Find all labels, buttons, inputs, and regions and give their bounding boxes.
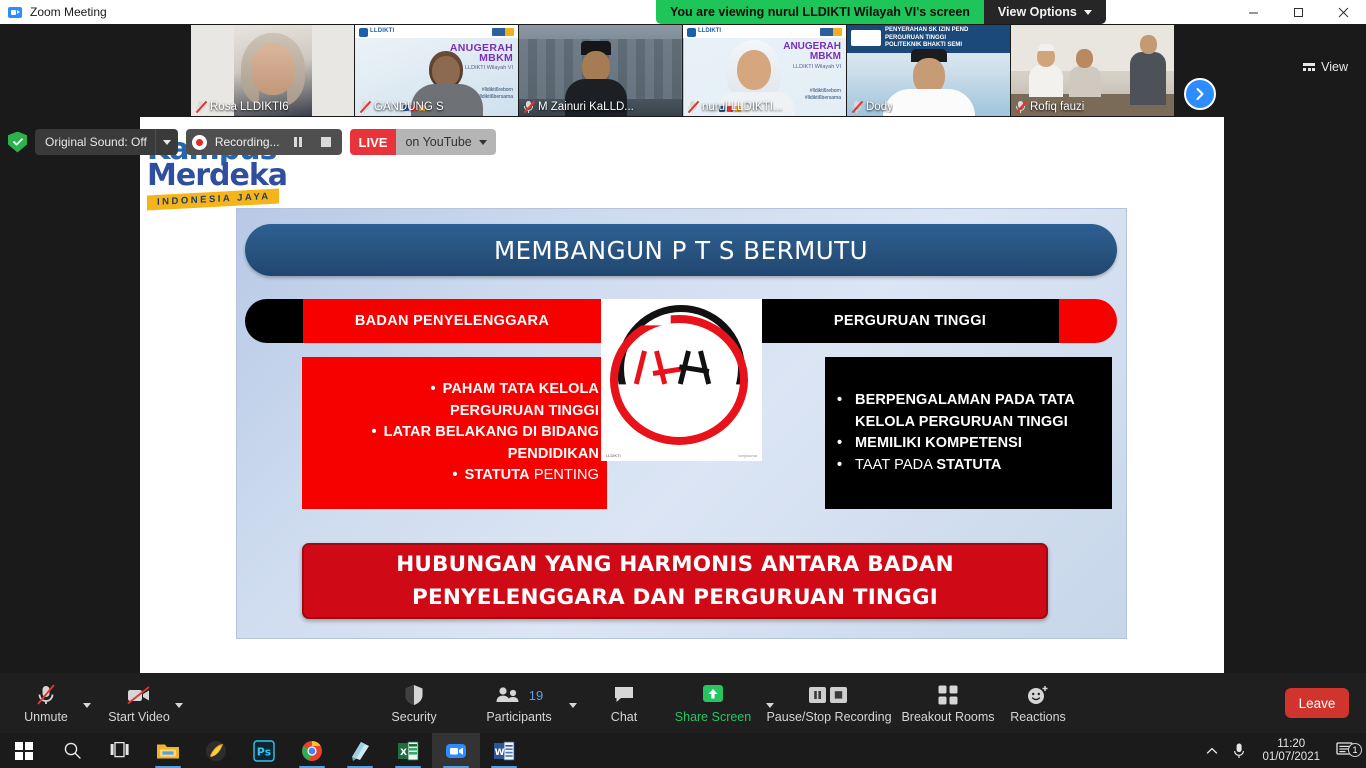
search-button[interactable]: [48, 733, 96, 768]
pause-recording-button[interactable]: [288, 132, 308, 152]
participant-name-tag: Rosa LLDIKTI6: [195, 100, 289, 113]
meeting-top-controls: Original Sound: Off Recording... LIVE on…: [8, 128, 496, 156]
list-item: •STATUTA PENTING: [314, 465, 599, 487]
participant-thumbnail[interactable]: Rofiq fauzi: [1011, 25, 1174, 116]
mic-muted-icon: [1015, 100, 1026, 113]
meeting-toolbar: Unmute Start Video Security: [0, 673, 1366, 733]
original-sound-label: Original Sound: Off: [35, 135, 155, 149]
presentation-slide: MEMBANGUN P T S BERMUTU BADAN PENYELENGG…: [236, 208, 1127, 639]
participant-name-tag: M Zainuri KaLLD...: [523, 100, 634, 113]
participant-name-tag: Rofiq fauzi: [1015, 100, 1084, 113]
participant-thumbnail[interactable]: LLDIKTI ANUGERAHMBKMLLDIKTI Wilayah VI #…: [355, 25, 518, 116]
close-button[interactable]: [1321, 0, 1366, 24]
breakout-rooms-icon: [937, 682, 959, 708]
stop-recording-button[interactable]: [316, 132, 336, 152]
task-view-icon: [110, 742, 130, 759]
minimize-button[interactable]: [1231, 0, 1276, 24]
list-item: KELOLA PERGURUAN TINGGI: [837, 412, 1104, 434]
word-icon: W: [493, 740, 515, 762]
logo-line-2: Merdeka: [147, 162, 287, 189]
security-label: Security: [391, 710, 436, 724]
mic-muted-icon: [359, 100, 370, 113]
banner-line-2: PENYELENGGARA DAN PERGURUAN TINGGI: [412, 585, 938, 610]
notes-icon: [349, 740, 371, 762]
unmute-label: Unmute: [24, 710, 68, 724]
svg-text:X: X: [400, 748, 407, 758]
badan-penyelenggara-label: BADAN PENYELENGGARA: [303, 299, 601, 343]
zoom-icon: [444, 740, 468, 762]
participant-name-tag: Dody: [851, 100, 893, 113]
view-options-button[interactable]: View Options: [984, 0, 1106, 24]
share-screen-button[interactable]: Share Screen: [672, 677, 754, 731]
clock-time: 11:20: [1262, 738, 1320, 751]
pause-stop-recording-icon: [807, 682, 851, 708]
chevron-down-icon: [479, 140, 487, 145]
start-button[interactable]: [0, 733, 48, 768]
photoshop-icon: Ps: [253, 740, 275, 762]
chat-label: Chat: [611, 710, 637, 724]
reactions-button[interactable]: Reactions: [1003, 677, 1073, 731]
chevron-up-icon: [1206, 747, 1218, 755]
windows-logo-icon: [15, 742, 33, 760]
audio-options-chevron[interactable]: [83, 703, 91, 708]
live-badge: LIVE: [350, 129, 397, 155]
sticky-notes-taskbar-icon[interactable]: [336, 733, 384, 768]
slide-bottom-banner: HUBUNGAN YANG HARMONIS ANTARA BADAN PENY…: [302, 543, 1048, 619]
excel-taskbar-icon[interactable]: X: [384, 733, 432, 768]
right-bullet-list: •BERPENGALAMAN PADA TATA KELOLA PERGURUA…: [837, 390, 1104, 476]
mic-muted-icon: [687, 100, 698, 113]
list-item: PERGURUAN TINGGI: [314, 401, 599, 423]
recording-indicator: Recording...: [186, 129, 342, 155]
perguruan-tinggi-panel: •BERPENGALAMAN PADA TATA KELOLA PERGURUA…: [825, 357, 1112, 509]
start-video-button[interactable]: Start Video: [104, 677, 174, 731]
word-taskbar-icon[interactable]: W: [480, 733, 528, 768]
list-item: •PAHAM TATA KELOLA: [314, 379, 599, 401]
participant-filmstrip: Rosa LLDIKTI6 LLDIKTI ANUGERAHMBKMLLDIKT…: [0, 24, 1366, 117]
badan-penyelenggara-header: BADAN PENYELENGGARA: [245, 299, 601, 343]
viewing-screen-message: You are viewing nurul LLDIKTI Wilayah VI…: [656, 0, 984, 24]
microphone-icon: [1232, 742, 1246, 760]
chrome-taskbar-icon[interactable]: [288, 733, 336, 768]
original-sound-control[interactable]: Original Sound: Off: [35, 129, 178, 155]
participant-name: Rosa LLDIKTI6: [210, 101, 289, 113]
mic-muted-icon: [851, 100, 862, 113]
list-item: •MEMILIKI KOMPETENSI: [837, 433, 1104, 455]
list-item: •TAAT PADA STATUTA: [837, 455, 1104, 477]
zoom-meeting-window: Zoom Meeting You are viewing nurul LLDIK…: [0, 0, 1366, 768]
fl-studio-icon: [205, 740, 227, 762]
participants-count: 19: [529, 688, 543, 703]
live-platform-label: on YouTube: [405, 135, 471, 149]
participant-name: GANDUNG S: [374, 101, 444, 113]
participant-thumbnail[interactable]: PENYERAHAN SK IZIN PENDPERGURUAN TINGGIP…: [847, 25, 1010, 116]
chat-button[interactable]: Chat: [599, 677, 649, 731]
chevron-down-icon: [1084, 10, 1092, 15]
maximize-button[interactable]: [1276, 0, 1321, 24]
folder-icon: [156, 741, 180, 761]
original-sound-dropdown[interactable]: [156, 140, 178, 145]
unmute-button[interactable]: Unmute: [18, 677, 74, 731]
breakout-rooms-label: Breakout Rooms: [901, 710, 994, 724]
participants-icon: 19: [495, 682, 543, 708]
live-stream-indicator[interactable]: LIVE on YouTube: [350, 129, 496, 155]
clock-date: 01/07/2021: [1262, 751, 1320, 764]
chevron-down-icon: [163, 140, 171, 145]
list-item: •LATAR BELAKANG DI BIDANG: [314, 422, 599, 444]
reactions-label: Reactions: [1010, 710, 1066, 724]
perguruan-tinggi-label: PERGURUAN TINGGI: [761, 299, 1059, 343]
leave-button[interactable]: Leave: [1285, 688, 1349, 718]
view-button[interactable]: View: [1297, 56, 1354, 78]
slide-title: MEMBANGUN P T S BERMUTU: [245, 224, 1117, 276]
file-explorer-taskbar-icon[interactable]: [144, 733, 192, 768]
taskbar-clock[interactable]: 11:20 01/07/2021: [1253, 738, 1329, 764]
excel-icon: X: [397, 740, 419, 762]
participant-name-tag: GANDUNG S: [359, 100, 444, 113]
notification-badge: 1: [1348, 743, 1362, 757]
chat-bubble-icon: [613, 682, 635, 708]
participant-name: M Zainuri KaLLD...: [538, 101, 634, 113]
zoom-taskbar-icon[interactable]: [432, 733, 480, 768]
thumbnail-list: Rosa LLDIKTI6 LLDIKTI ANUGERAHMBKMLLDIKT…: [191, 25, 1174, 116]
participant-name-tag: nurul LLDIKTI...: [687, 100, 783, 113]
pause-stop-recording-button[interactable]: Pause/Stop Recording: [765, 677, 893, 731]
share-screen-label: Share Screen: [675, 710, 751, 724]
left-bullet-list: •PAHAM TATA KELOLA PERGURUAN TINGGI •LAT…: [314, 379, 599, 487]
shared-screen-area: Kampus Merdeka INDONESIA JAYA MEMBANGUN …: [140, 117, 1224, 673]
badan-penyelenggara-panel: •PAHAM TATA KELOLA PERGURUAN TINGGI •LAT…: [302, 357, 607, 509]
participant-name: nurul LLDIKTI...: [702, 101, 783, 113]
svg-text:W: W: [495, 748, 505, 758]
video-options-chevron[interactable]: [175, 703, 183, 708]
list-item: PENDIDIKAN: [314, 444, 599, 466]
microphone-tray-icon[interactable]: [1225, 733, 1253, 768]
mic-muted-icon: [195, 100, 206, 113]
show-hidden-icons-button[interactable]: [1199, 733, 1225, 768]
camera-off-icon: [126, 682, 152, 708]
svg-text:Ps: Ps: [257, 745, 272, 758]
image-caption-left: LLDIKTI: [606, 453, 621, 458]
zoom-camera-icon: [8, 7, 22, 18]
pause-stop-recording-label: Pause/Stop Recording: [766, 710, 891, 724]
security-button[interactable]: Security: [386, 677, 442, 731]
share-screen-icon: [701, 682, 725, 708]
list-item: •BERPENGALAMAN PADA TATA: [837, 390, 1104, 412]
mic-muted-icon: [523, 100, 534, 113]
participant-thumbnail[interactable]: Rosa LLDIKTI6: [191, 25, 354, 116]
participant-name: Dody: [866, 101, 893, 113]
notification-center-button[interactable]: 1: [1329, 740, 1366, 761]
window-title: Zoom Meeting: [30, 5, 107, 19]
windows-taskbar: Ps: [0, 733, 1366, 768]
fl-studio-taskbar-icon[interactable]: [192, 733, 240, 768]
participants-options-chevron[interactable]: [569, 703, 577, 708]
reactions-icon: [1026, 682, 1050, 708]
view-options-label: View Options: [998, 5, 1077, 19]
start-video-label: Start Video: [108, 710, 170, 724]
screen-share-banner: You are viewing nurul LLDIKTI Wilayah VI…: [656, 0, 1106, 24]
shield-icon: [404, 682, 424, 708]
magnifier-icon: [63, 741, 82, 760]
chevron-right-icon: [1194, 87, 1206, 101]
photoshop-taskbar-icon[interactable]: Ps: [240, 733, 288, 768]
banner-line-1: HUBUNGAN YANG HARMONIS ANTARA BADAN: [396, 552, 954, 577]
participant-thumbnail[interactable]: 6 M Zainuri KaLLD...: [519, 25, 682, 116]
perguruan-tinggi-header: PERGURUAN TINGGI: [761, 299, 1117, 343]
participant-name: Rofiq fauzi: [1030, 101, 1084, 113]
participants-button[interactable]: 19 Participants: [481, 677, 557, 731]
recording-label: Recording...: [215, 135, 280, 149]
shield-check-icon[interactable]: [8, 132, 27, 153]
filmstrip-next-button[interactable]: [1184, 78, 1216, 110]
breakout-rooms-button[interactable]: Breakout Rooms: [897, 677, 999, 731]
view-label: View: [1321, 60, 1348, 74]
mic-muted-icon: [35, 682, 57, 708]
task-view-button[interactable]: [96, 733, 144, 768]
participants-label: Participants: [486, 710, 551, 724]
system-tray: 11:20 01/07/2021 1: [1199, 733, 1366, 768]
image-caption-right: kerjasama: [739, 453, 757, 458]
handshake-illustration: LLDIKTI kerjasama: [601, 299, 762, 461]
live-platform[interactable]: on YouTube: [396, 129, 495, 155]
recording-dot-icon: [192, 135, 207, 150]
chrome-icon: [301, 740, 323, 762]
grid-view-icon: [1303, 63, 1315, 71]
participant-thumbnail[interactable]: LLDIKTI ANUGERAHMBKMLLDIKTI Wilayah VI #…: [683, 25, 846, 116]
